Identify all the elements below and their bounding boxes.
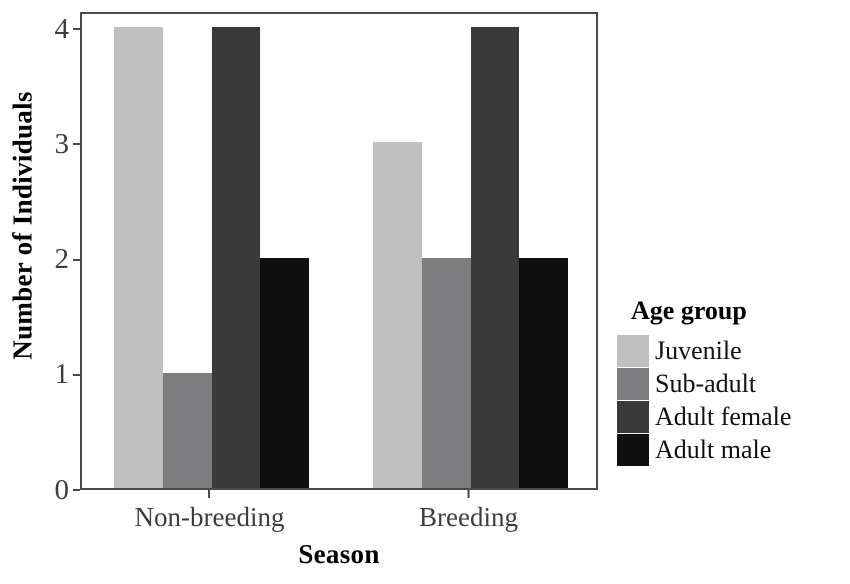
x-tick: Breeding: [419, 490, 518, 533]
legend-label: Adult female: [655, 404, 791, 430]
legend-swatch: [617, 401, 649, 433]
bar: [163, 373, 212, 488]
legend-item: Juvenile: [617, 334, 847, 367]
bar: [373, 142, 422, 488]
legend-swatch: [617, 335, 649, 367]
bar: [519, 258, 568, 488]
legend-swatch: [617, 434, 649, 466]
legend-item: Adult female: [617, 400, 847, 433]
legend-item: Adult male: [617, 433, 847, 466]
bar: [260, 258, 309, 488]
legend-item: Sub-adult: [617, 367, 847, 400]
bars-layer: [82, 14, 596, 488]
legend-label: Adult male: [655, 437, 771, 463]
y-tick-label: 4: [55, 15, 74, 44]
legend-label: Sub-adult: [655, 371, 756, 397]
y-tick-mark: [73, 28, 80, 30]
bar: [212, 27, 261, 488]
bar-chart-figure: Number of Individuals 01234 Non-breeding…: [0, 0, 850, 584]
y-tick-label: 0: [55, 476, 74, 505]
y-tick-label: 3: [55, 130, 74, 159]
y-axis-ticks: 01234: [0, 0, 80, 492]
legend-label: Juvenile: [655, 338, 742, 364]
x-axis-title: Season: [80, 539, 598, 570]
y-tick-label: 2: [55, 245, 74, 274]
x-tick-mark: [467, 490, 469, 498]
bar: [422, 258, 471, 488]
x-tick-mark: [208, 490, 210, 498]
y-tick-mark: [73, 489, 80, 491]
x-axis-ticks: Non-breedingBreeding: [80, 490, 598, 540]
legend-title: Age group: [631, 296, 847, 326]
y-tick-mark: [73, 374, 80, 376]
x-tick-label: Non-breeding: [135, 502, 285, 533]
legend-items: JuvenileSub-adultAdult femaleAdult male: [617, 334, 847, 466]
x-tick: Non-breeding: [135, 490, 285, 533]
bar: [114, 27, 163, 488]
y-tick-mark: [73, 143, 80, 145]
bar: [471, 27, 520, 488]
y-tick-label: 1: [55, 360, 74, 389]
x-tick-label: Breeding: [419, 502, 518, 533]
plot-panel: [80, 12, 598, 490]
y-tick-mark: [73, 259, 80, 261]
legend: Age group JuvenileSub-adultAdult femaleA…: [617, 296, 847, 466]
legend-swatch: [617, 368, 649, 400]
